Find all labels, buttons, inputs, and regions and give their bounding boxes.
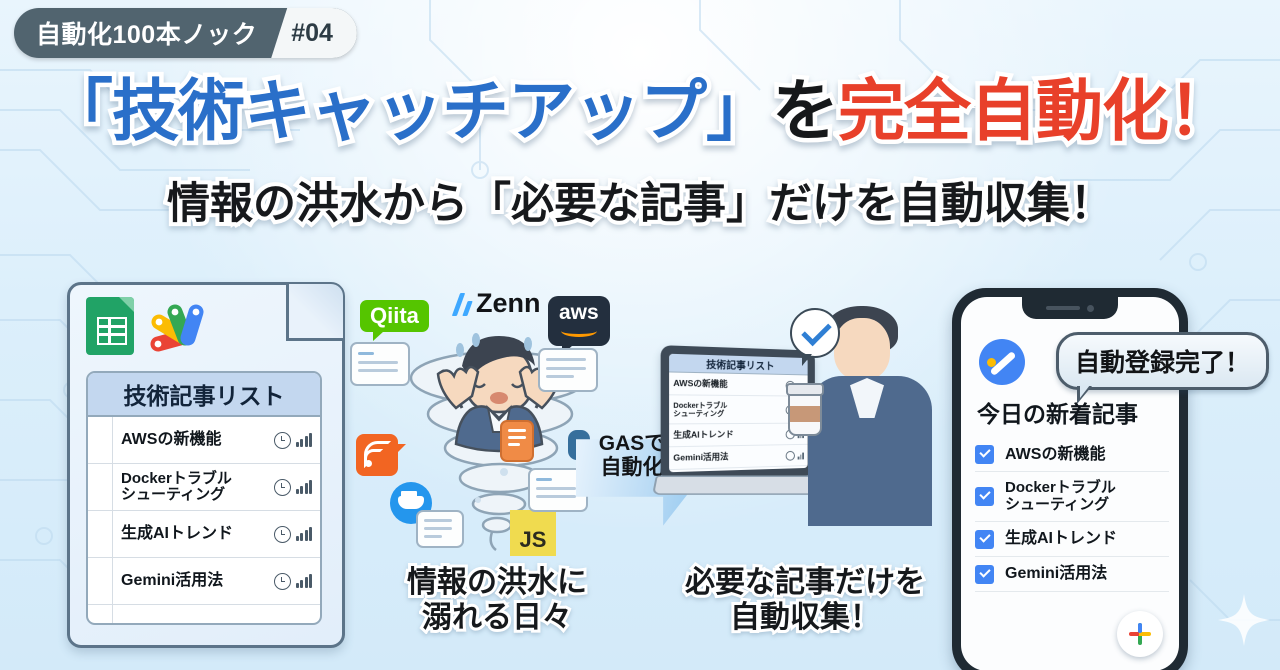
headline-part-red: 完全自動化！ <box>838 74 1234 149</box>
list-item[interactable]: Gemini活用法 <box>975 557 1169 592</box>
rss-logo <box>356 434 398 476</box>
qiita-logo: Qiita <box>360 300 429 332</box>
caption-right: 必要な記事だけを 自動収集！ <box>680 565 930 636</box>
google-apps-script-icon <box>144 298 210 354</box>
article-title: AWSの新機能 <box>113 432 274 449</box>
spreadsheet-card: 技術記事リスト AWSの新機能 Dockerトラブル シューティング <box>67 282 345 648</box>
page-title: 「技術キャッチアップ」を完全自動化！ <box>0 78 1280 145</box>
laptop-article-title: Gemini活用法 <box>673 451 783 462</box>
checkbox-checked-icon[interactable] <box>975 487 994 506</box>
headline-part-black: を <box>772 74 838 149</box>
article-title: Dockerトラブル シューティング <box>113 471 274 503</box>
list-item[interactable]: 生成AIトレンド <box>975 522 1169 557</box>
row-gutter <box>96 558 113 604</box>
checkbox-checked-icon[interactable] <box>975 565 994 584</box>
checkbox-checked-icon[interactable] <box>975 445 994 464</box>
zenn-logo: Zenn <box>454 288 541 319</box>
laptop-screen: 技術記事リスト AWSの新機能 Dockerトラブル シューティング 生成AIト… <box>669 354 808 473</box>
task-list: AWSの新機能 Dockerトラブル シューティング 生成AIトレンド Gemi… <box>975 437 1169 592</box>
headline-part-blue: 「技術キャッチアップ」 <box>46 74 772 149</box>
signal-bars-icon <box>296 433 313 447</box>
laptop-article-title: 生成AIトレンド <box>673 430 783 440</box>
sparkle-icon <box>1218 594 1270 646</box>
article-title: Gemini活用法 <box>113 573 274 590</box>
row-gutter <box>96 464 113 510</box>
checkbox-checked-icon[interactable] <box>975 530 994 549</box>
signal-bars-icon <box>296 574 313 588</box>
clock-icon <box>274 432 291 449</box>
row-status-icons <box>274 526 321 543</box>
article-list-title: 技術記事リスト <box>88 373 320 417</box>
task-label: Dockerトラブル シューティング <box>1005 480 1116 514</box>
add-task-button[interactable] <box>1117 611 1163 657</box>
table-row: Dockerトラブル シューティング <box>88 464 320 511</box>
phone-list-title: 今日の新着記事 <box>977 395 1138 429</box>
row-status-icons <box>274 479 321 496</box>
clock-icon <box>274 573 291 590</box>
page-fold-corner <box>286 284 343 341</box>
signal-bars-icon <box>296 527 313 541</box>
signal-bars-icon <box>296 480 313 494</box>
laptop-article-title: AWSの新機能 <box>673 379 783 389</box>
check-icon <box>801 316 831 346</box>
document-card <box>500 420 534 462</box>
list-item[interactable]: Dockerトラブル シューティング <box>975 472 1169 522</box>
aws-logo: aws <box>548 296 610 346</box>
task-label: AWSの新機能 <box>1005 446 1105 464</box>
page-subtitle: 情報の洪水から「必要な記事」だけを自動収集！ <box>0 183 1280 226</box>
poster-canvas: 自動化100本ノック #04 「技術キャッチアップ」を完全自動化！ 情報の洪水か… <box>0 0 1280 670</box>
laptop-list-row: 生成AIトレンド <box>669 424 808 448</box>
series-badge-label: 自動化100本ノック <box>14 8 271 58</box>
table-row-empty <box>88 605 320 625</box>
aws-smile-icon <box>561 325 597 337</box>
phone-notch <box>1022 297 1118 319</box>
relaxed-worker-illustration: 技術記事リスト AWSの新機能 Dockerトラブル シューティング 生成AIト… <box>648 290 948 560</box>
sheet-app-icons <box>86 297 210 355</box>
article-bubble <box>416 510 464 548</box>
clock-icon <box>274 526 291 543</box>
clock-icon <box>274 479 291 496</box>
row-status-icons <box>274 573 321 590</box>
caption-left-line1: 情報の洪水に <box>407 566 587 599</box>
article-bubble <box>350 342 410 386</box>
series-badge: 自動化100本ノック #04 <box>14 8 357 58</box>
google-sheets-icon <box>86 297 134 355</box>
list-item[interactable]: AWSの新機能 <box>975 437 1169 472</box>
speaker-icon <box>1046 306 1080 310</box>
auto-register-speech-bubble: 自動登録完了！ <box>1056 332 1269 390</box>
zenn-slash-icon <box>454 293 474 315</box>
series-badge-episode: #04 <box>271 8 357 58</box>
table-row: Gemini活用法 <box>88 558 320 605</box>
caption-right-line2: 自動収集！ <box>730 601 880 634</box>
laptop-list-row: Gemini活用法 <box>669 445 808 470</box>
row-gutter <box>96 417 113 463</box>
coffee-cup <box>788 388 822 436</box>
article-list: 技術記事リスト AWSの新機能 Dockerトラブル シューティング <box>86 371 322 625</box>
article-title: 生成AIトレンド <box>113 526 274 543</box>
check-speech-bubble <box>790 308 840 358</box>
task-label: Gemini活用法 <box>1005 565 1107 583</box>
task-label: 生成AIトレンド <box>1005 530 1117 548</box>
table-row: 生成AIトレンド <box>88 511 320 558</box>
row-gutter <box>96 511 113 557</box>
clock-icon <box>786 450 795 460</box>
row-status-icons <box>274 432 321 449</box>
caption-left-line2: 溺れる日々 <box>422 601 572 634</box>
camera-icon <box>1087 305 1094 312</box>
laptop-list-row: Dockerトラブル シューティング <box>669 395 808 424</box>
subtitle-text: 情報の洪水から「必要な記事」だけを自動収集！ <box>167 180 1113 228</box>
head <box>834 318 890 380</box>
google-tasks-icon <box>979 339 1025 385</box>
caption-left: 情報の洪水に 溺れる日々 <box>392 565 602 636</box>
article-bubble <box>538 348 598 392</box>
laptop-article-title: Dockerトラブル シューティング <box>673 402 783 417</box>
javascript-logo: JS <box>510 510 556 556</box>
table-row: AWSの新機能 <box>88 417 320 464</box>
caption-right-line1: 必要な記事だけを <box>685 566 925 599</box>
